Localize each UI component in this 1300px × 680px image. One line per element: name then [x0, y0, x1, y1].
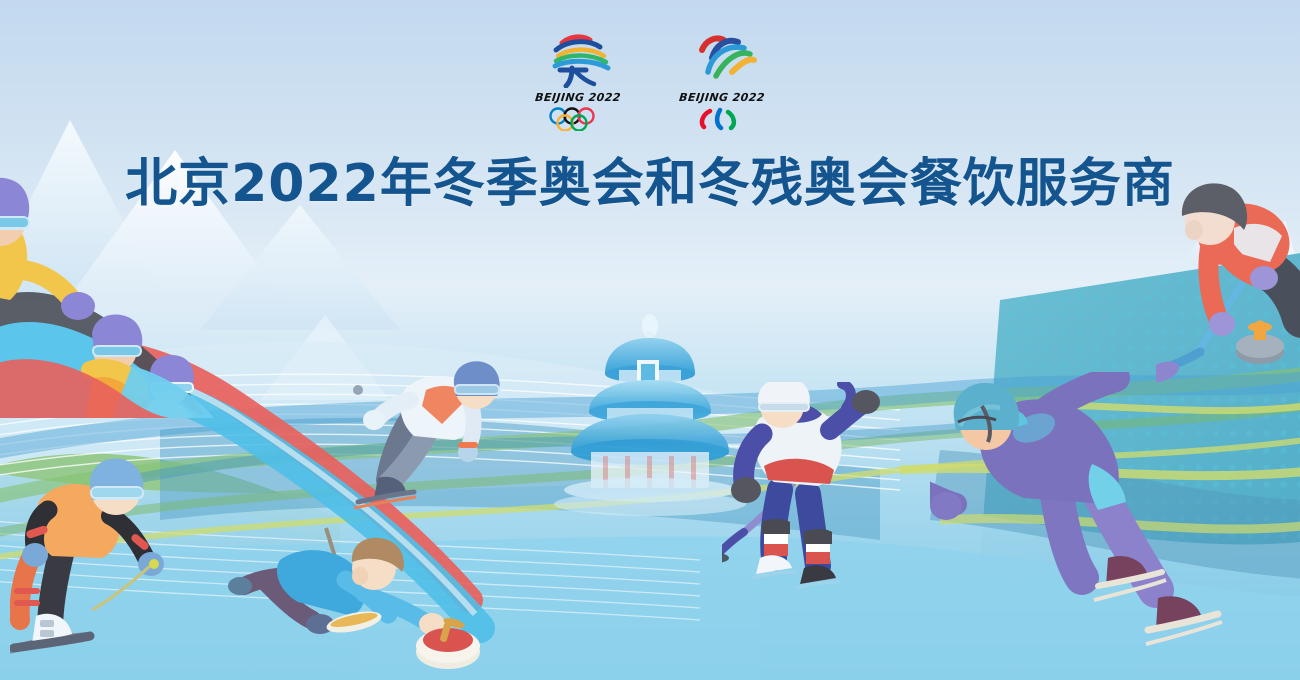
- ice-hockey-player: [722, 382, 922, 612]
- beijing-2022-catering-banner: BEIJING 2022: [0, 0, 1300, 680]
- paralympic-emblem: BEIJING 2022: [673, 32, 771, 136]
- olympic-emblem: BEIJING 2022: [529, 32, 627, 136]
- olympic-emblem-mark: [529, 32, 627, 90]
- speed-skater: [930, 372, 1260, 672]
- olympic-wordmark: BEIJING 2022: [528, 91, 627, 104]
- paralympic-emblem-mark: [673, 32, 771, 90]
- olympic-rings-icon: [529, 107, 627, 136]
- agitos-icon: [673, 107, 771, 136]
- emblem-row: BEIJING 2022: [0, 32, 1300, 136]
- curling-stone-yellow: [1236, 321, 1284, 365]
- curler-delivering: [228, 524, 488, 680]
- banner-title: 北京2022年冬季奥会和冬残奥会餐饮服务商: [0, 141, 1300, 216]
- paralympic-wordmark: BEIJING 2022: [672, 91, 771, 104]
- short-track-skater: [350, 344, 530, 524]
- alpine-skier: [10, 438, 210, 678]
